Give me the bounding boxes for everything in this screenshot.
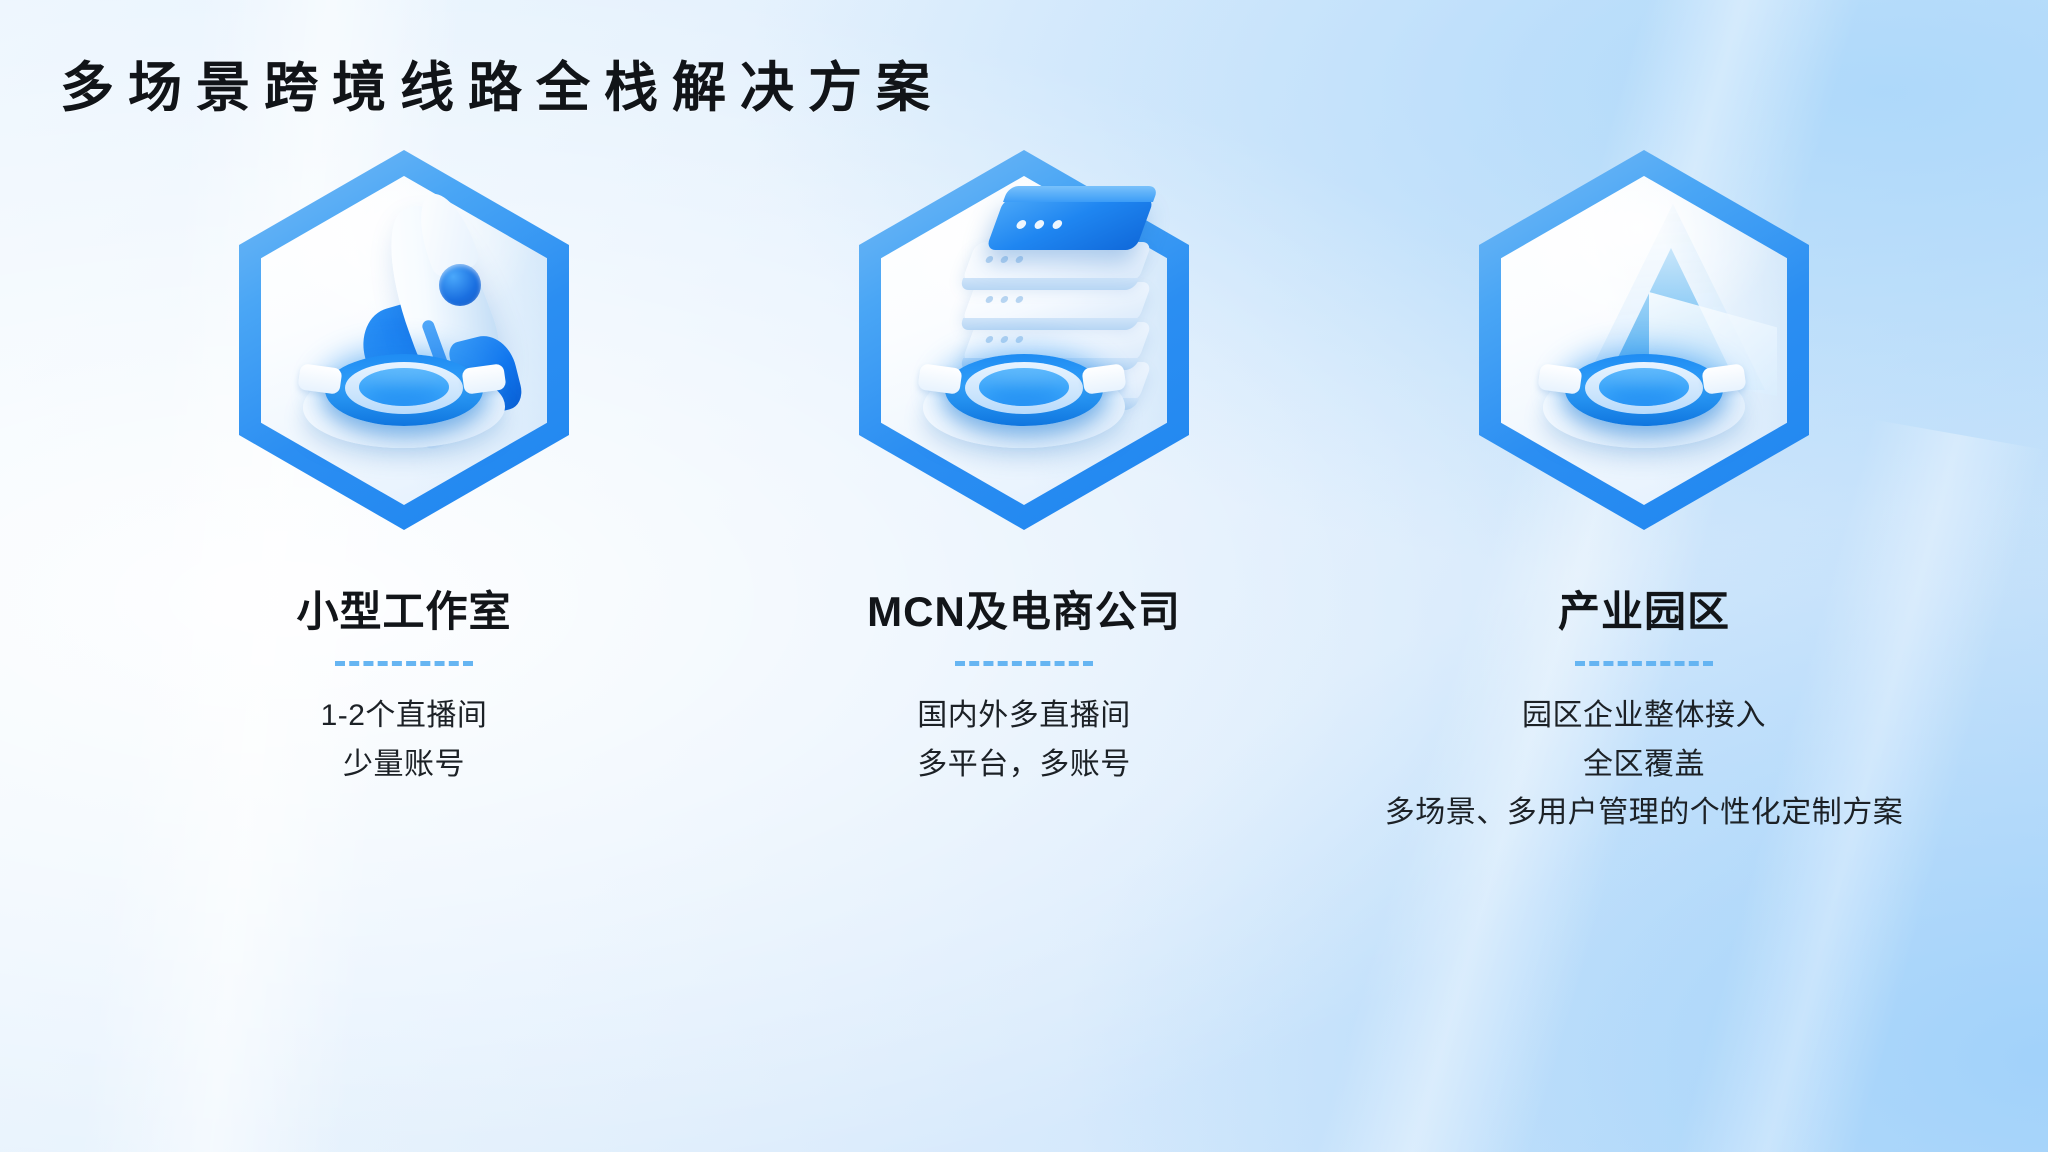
pedestal-core-glow: [359, 368, 449, 406]
server-slab-edge: [959, 278, 1139, 290]
glowing-pedestal: [909, 336, 1139, 456]
server-slab-dots: [985, 256, 1025, 263]
card-description: 国内外多直播间 多平台，多账号: [917, 692, 1131, 789]
pedestal-notch-left: [1537, 363, 1582, 395]
pedestal-notch-left: [297, 363, 342, 395]
pedestal-core-glow: [1599, 368, 1689, 406]
page-title: 多场景跨境线路全栈解决方案: [60, 56, 944, 121]
card-divider: [955, 661, 1093, 666]
card-divider: [335, 661, 473, 666]
card-illustration: [1444, 150, 1844, 570]
slide-canvas: 多场景跨境线路全栈解决方案: [0, 0, 2048, 1152]
hexagon-badge: [859, 150, 1189, 530]
card-title: 小型工作室: [296, 578, 511, 639]
card-description-line: 国内外多直播间: [917, 692, 1131, 741]
server-slab-edge: [959, 318, 1139, 330]
card-description-line: 多场景、多用户管理的个性化定制方案: [1385, 789, 1904, 838]
hexagon-badge: [1479, 150, 1809, 530]
card-divider: [1575, 661, 1713, 666]
solution-cards-row: 小型工作室 1-2个直播间 少量账号: [0, 150, 2048, 838]
pedestal-notch-right: [461, 363, 506, 395]
card-description: 园区企业整体接入 全区覆盖 多场景、多用户管理的个性化定制方案: [1385, 692, 1904, 838]
card-description-line: 全区覆盖: [1385, 741, 1904, 790]
glowing-pedestal: [1529, 336, 1759, 456]
card-description-line: 多平台，多账号: [917, 741, 1131, 790]
solution-card-small-studio[interactable]: 小型工作室 1-2个直播间 少量账号: [94, 150, 714, 789]
glowing-pedestal: [289, 336, 519, 456]
pedestal-notch-right: [1081, 363, 1126, 395]
pedestal-notch-left: [917, 363, 962, 395]
card-description: 1-2个直播间 少量账号: [321, 692, 488, 789]
card-description-line: 少量账号: [321, 741, 488, 790]
card-title: 产业园区: [1558, 578, 1730, 639]
card-description-line: 1-2个直播间: [321, 692, 488, 741]
card-title: MCN及电商公司: [867, 578, 1181, 639]
pedestal-notch-right: [1701, 363, 1746, 395]
card-description-line: 园区企业整体接入: [1385, 692, 1904, 741]
pedestal-core-glow: [979, 368, 1069, 406]
card-illustration: [824, 150, 1224, 570]
server-top-unit-lid: [1003, 186, 1159, 202]
rocket-window: [439, 264, 481, 306]
card-illustration: [204, 150, 604, 570]
server-top-unit-indicators: [1015, 220, 1063, 229]
solution-card-industrial-park[interactable]: 产业园区 园区企业整体接入 全区覆盖 多场景、多用户管理的个性化定制方案: [1334, 150, 1954, 838]
server-top-unit: [986, 198, 1155, 250]
server-slab-dots: [985, 296, 1025, 303]
solution-card-mcn-ecommerce[interactable]: MCN及电商公司 国内外多直播间 多平台，多账号: [714, 150, 1334, 789]
hexagon-badge: [239, 150, 569, 530]
